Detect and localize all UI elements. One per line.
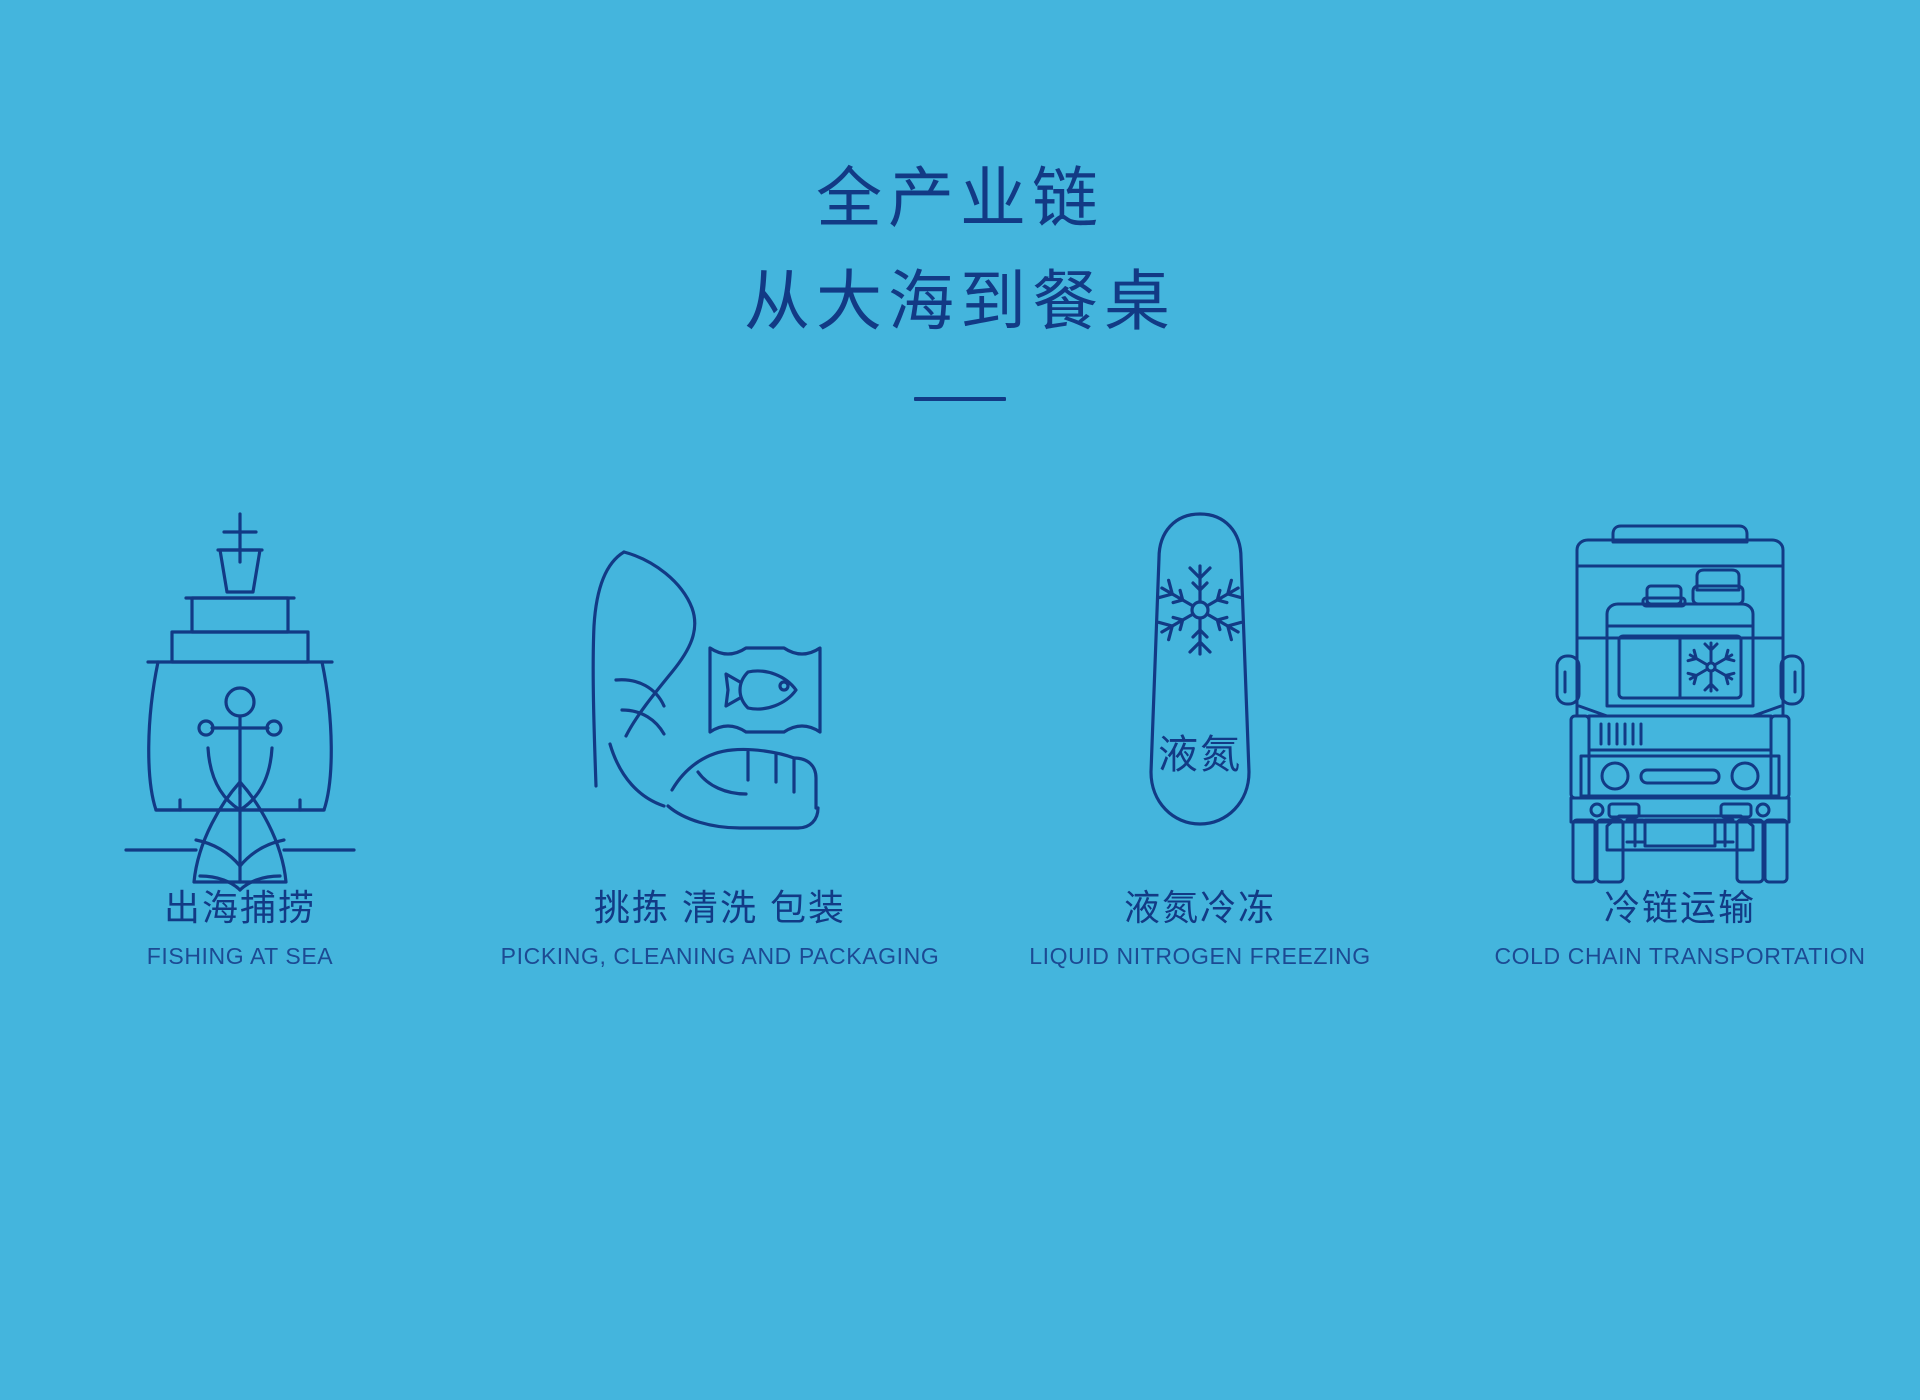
process-steps: 出海捕捞 FISHING AT SEA: [0, 500, 1920, 970]
step-label-en: FISHING AT SEA: [147, 943, 333, 970]
icon-container: [580, 500, 860, 830]
refrigerated-truck-icon: [1555, 520, 1805, 830]
step-labels: 液氮冷冻 LIQUID NITROGEN FREEZING: [1029, 886, 1371, 970]
infographic-canvas: 全产业链 从大海到餐桌: [0, 0, 1920, 1400]
tank-label-text: 液氮: [1158, 733, 1242, 777]
step-labels: 冷链运输 COLD CHAIN TRANSPORTATION: [1494, 886, 1865, 970]
step-label-cn: 冷链运输: [1494, 886, 1865, 929]
icon-container: 液氮: [1135, 500, 1265, 830]
icon-container: [120, 500, 360, 830]
step-cold-chain-transportation[interactable]: 冷链运输 COLD CHAIN TRANSPORTATION: [1440, 500, 1920, 970]
snowflake-icon: [1687, 643, 1735, 691]
icon-container: [1555, 500, 1805, 830]
snowflake-icon: [1157, 566, 1243, 654]
header: 全产业链 从大海到餐桌: [0, 160, 1920, 401]
title-divider: [914, 397, 1006, 401]
step-fishing-at-sea[interactable]: 出海捕捞 FISHING AT SEA: [0, 500, 480, 970]
step-label-cn: 液氮冷冻: [1029, 886, 1371, 929]
fishing-boat-anchor-icon: [120, 510, 360, 830]
step-liquid-nitrogen-freezing[interactable]: 液氮 液氮冷冻 LIQUID NITROGEN FREEZING: [960, 500, 1440, 970]
page-title-secondary: 从大海到餐桌: [0, 263, 1920, 344]
hands-fish-package-icon: [580, 530, 860, 830]
step-label-en: LIQUID NITROGEN FREEZING: [1029, 943, 1371, 970]
step-label-cn: 挑拣 清洗 包装: [501, 886, 940, 929]
liquid-nitrogen-tank-icon: 液氮: [1135, 510, 1265, 830]
page-title-primary: 全产业链: [0, 160, 1920, 241]
step-picking-cleaning-packaging[interactable]: 挑拣 清洗 包装 PICKING, CLEANING AND PACKAGING: [480, 500, 960, 970]
step-label-en: PICKING, CLEANING AND PACKAGING: [501, 943, 940, 970]
step-label-cn: 出海捕捞: [147, 886, 333, 929]
step-labels: 挑拣 清洗 包装 PICKING, CLEANING AND PACKAGING: [501, 886, 940, 970]
step-label-en: COLD CHAIN TRANSPORTATION: [1494, 943, 1865, 970]
step-labels: 出海捕捞 FISHING AT SEA: [147, 886, 333, 970]
